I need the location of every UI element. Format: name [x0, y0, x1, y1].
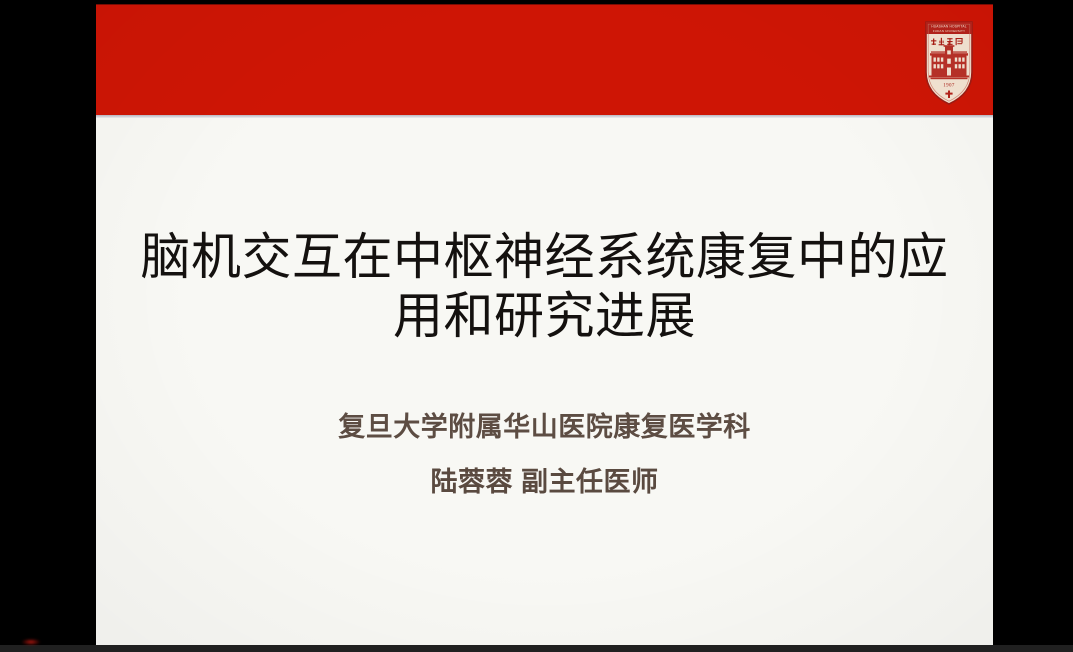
slide-title-block: 脑机交互在中枢神经系统康复中的应用和研究进展: [124, 228, 965, 345]
presenter-text: 陆蓉蓉 副主任医师: [124, 460, 965, 499]
video-player-screen: HUASHAN HOSPITAL FUDAN UNIVERSITY: [0, 0, 1073, 652]
recording-indicator-icon: [22, 639, 40, 645]
letterbox-right: [993, 0, 1073, 652]
letterbox-left: [0, 0, 96, 652]
slide-body: 脑机交互在中枢神经系统康复中的应用和研究进展 复旦大学附属华山医院康复医学科 陆…: [96, 118, 993, 645]
affiliation-text: 复旦大学附属华山医院康复医学科: [124, 405, 965, 444]
letterbox-bottom: [0, 645, 1073, 652]
svg-text:1907: 1907: [943, 84, 955, 89]
slide-header-band: [96, 4, 993, 115]
svg-text:FUDAN UNIVERSITY: FUDAN UNIVERSITY: [933, 29, 965, 33]
slide-byline-block: 复旦大学附属华山医院康复医学科 陆蓉蓉 副主任医师: [124, 405, 965, 499]
huashan-hospital-shield-logo-icon: HUASHAN HOSPITAL FUDAN UNIVERSITY: [924, 20, 974, 106]
svg-text:HUASHAN HOSPITAL: HUASHAN HOSPITAL: [931, 24, 967, 28]
presentation-slide: HUASHAN HOSPITAL FUDAN UNIVERSITY: [96, 4, 993, 645]
page-title: 脑机交互在中枢神经系统康复中的应用和研究进展: [124, 228, 965, 345]
